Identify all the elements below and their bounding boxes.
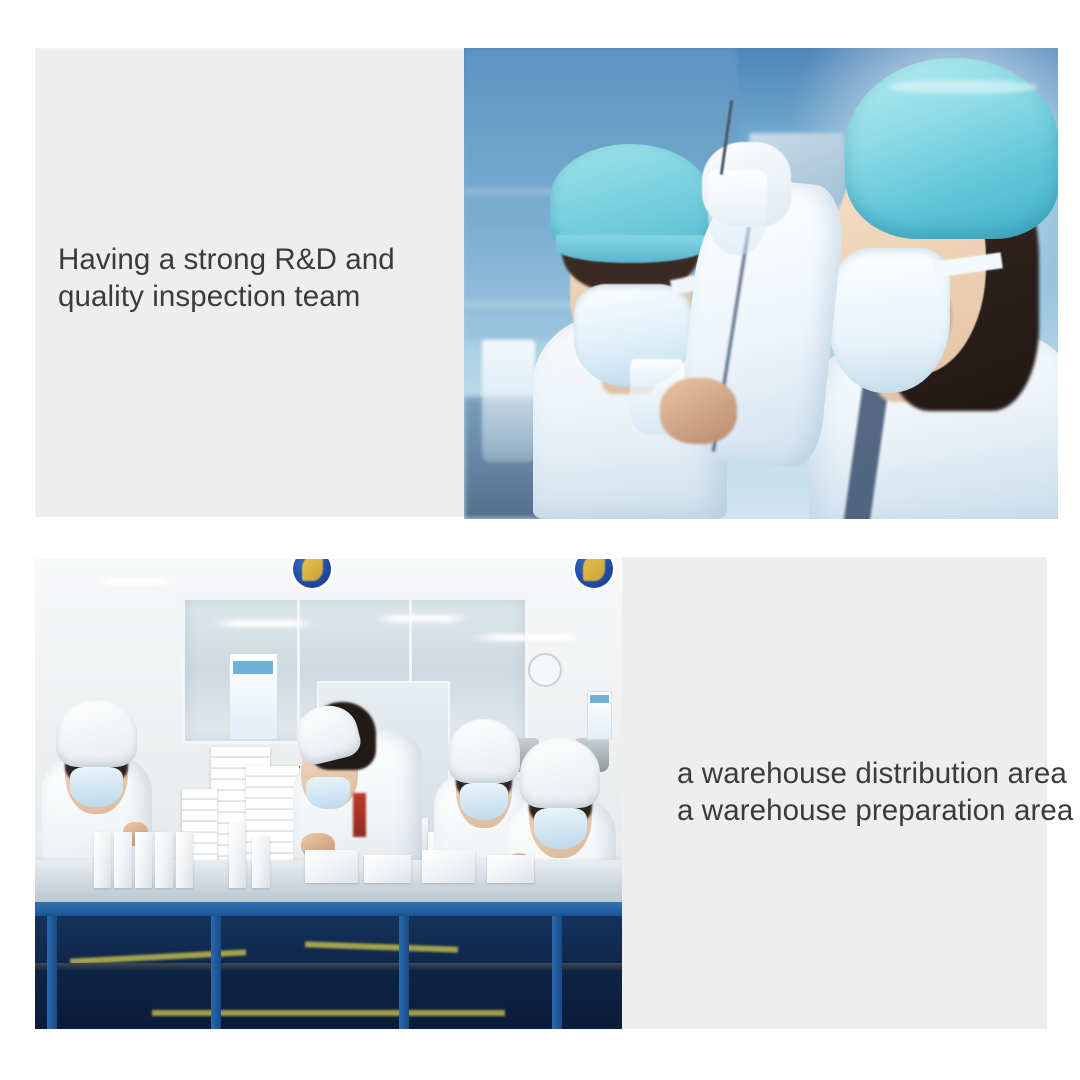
carton-upright — [176, 832, 194, 888]
worker-left-hairnet — [550, 144, 712, 254]
carton-upright — [94, 832, 112, 888]
worker-right-face-mask — [829, 248, 949, 393]
lab-scene — [464, 48, 1058, 519]
hairnet-fold — [888, 80, 1038, 94]
carton-upright — [252, 836, 270, 888]
carton-box — [422, 850, 475, 883]
carton-box — [305, 850, 358, 883]
lab-glassware — [482, 340, 535, 462]
warehouse-packing-photo — [35, 559, 622, 1029]
worker-face-mask — [460, 783, 508, 821]
ceiling-light — [375, 615, 469, 622]
feature-block-top: Having a strong R&D and quality inspecti… — [35, 48, 1058, 519]
caption-top-line1: Having a strong R&D and — [58, 241, 458, 278]
caption-bottom-line1: a warehouse distribution area — [677, 755, 1080, 792]
carton-upright — [155, 832, 173, 888]
wall-notice-board — [229, 653, 278, 740]
glass-flask — [708, 170, 767, 255]
caption-bottom-line2: a warehouse preparation area — [677, 792, 1080, 829]
worker-hairnet — [520, 738, 600, 808]
worker-face-mask — [70, 767, 124, 806]
feature-block-bottom: a warehouse distribution area a warehous… — [35, 557, 1047, 1029]
table-blue-rail — [35, 902, 622, 917]
worker-hairnet — [56, 700, 136, 767]
ceiling-light — [94, 578, 176, 585]
table-leg — [47, 916, 57, 1029]
packing-room-scene — [35, 559, 622, 1029]
lower-hand — [660, 378, 737, 444]
table-leg — [211, 916, 221, 1029]
small-wall-label — [587, 691, 612, 740]
carton-box — [364, 855, 411, 883]
floor-marking-tape — [152, 1010, 504, 1016]
worker-face-mask — [534, 808, 588, 849]
caption-bottom: a warehouse distribution area a warehous… — [677, 755, 1080, 829]
caption-top: Having a strong R&D and quality inspecti… — [58, 241, 458, 315]
table-leg — [399, 916, 409, 1029]
table-leg — [552, 916, 562, 1029]
lab-worker-right — [809, 76, 1058, 519]
caption-panel-top: Having a strong R&D and quality inspecti… — [35, 48, 465, 517]
worker-right-hairnet — [845, 58, 1058, 239]
wall-clock-icon — [528, 653, 562, 687]
carton-box — [487, 855, 534, 883]
page-root: Having a strong R&D and quality inspecti… — [0, 0, 1080, 1080]
carton-upright — [135, 832, 153, 888]
worker-face-mask — [306, 777, 350, 809]
carton-upright — [229, 822, 247, 888]
caption-top-line2: quality inspection team — [58, 278, 458, 315]
rd-quality-inspection-photo — [464, 48, 1058, 519]
worker-red-garment — [353, 793, 366, 836]
table-cross-brace — [35, 963, 622, 970]
carton-upright — [114, 832, 132, 888]
ceiling-light — [211, 620, 317, 627]
ceiling-light — [469, 634, 586, 641]
caption-panel-bottom: a warehouse distribution area a warehous… — [622, 557, 1047, 1029]
